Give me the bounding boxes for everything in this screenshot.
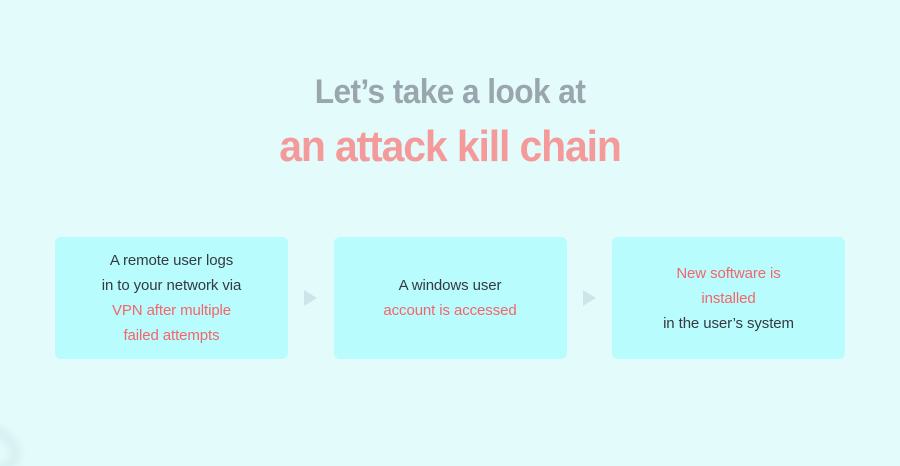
flow-separator-1 — [294, 290, 328, 306]
page-title: an attack kill chain — [32, 122, 869, 172]
flow-separator-2 — [572, 290, 606, 306]
flow-step-3: New software is installed in the user’s … — [612, 237, 845, 359]
page-kicker: Let’s take a look at — [32, 72, 869, 112]
title-block: Let’s take a look at an attack kill chai… — [0, 72, 900, 172]
slide-canvas: Let’s take a look at an attack kill chai… — [0, 0, 900, 466]
flow-step-1-text: A remote user logs in to your network vi… — [102, 248, 242, 348]
flow-step-3-line-3: in the user’s system — [663, 311, 794, 336]
chain-background-decoration — [0, 0, 900, 466]
flow-step-3-text: New software is installed in the user’s … — [663, 261, 794, 336]
flow-step-1: A remote user logs in to your network vi… — [55, 237, 288, 359]
flow-step-2-line-2: account is accessed — [383, 298, 516, 323]
flow-step-3-line-2: installed — [663, 286, 794, 311]
flow-step-1-line-3: VPN after multiple — [102, 298, 242, 323]
triangle-right-icon — [583, 290, 596, 306]
flow-step-1-line-2: in to your network via — [102, 273, 242, 298]
flow-step-1-line-1: A remote user logs — [102, 248, 242, 273]
triangle-right-icon — [304, 290, 317, 306]
flow-step-2-text: A windows user account is accessed — [383, 273, 516, 323]
flow-step-1-line-4: failed attempts — [102, 323, 242, 348]
flow-step-2-line-1: A windows user — [383, 273, 516, 298]
flow-step-2: A windows user account is accessed — [334, 237, 567, 359]
kill-chain-flow: A remote user logs in to your network vi… — [55, 237, 845, 359]
flow-step-3-line-1: New software is — [663, 261, 794, 286]
